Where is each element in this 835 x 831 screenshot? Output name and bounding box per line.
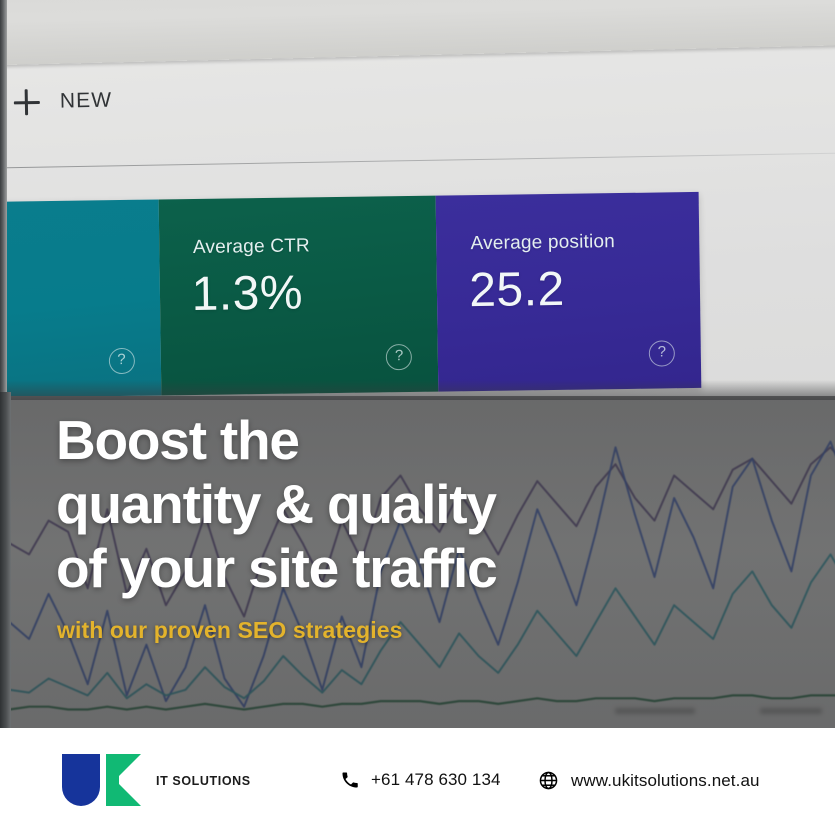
metric-card-value: 1.3% [191,265,303,322]
logo-k-upper-chevron [115,754,141,780]
new-button[interactable]: NEW [14,88,113,116]
help-icon[interactable]: ? [386,344,412,370]
metric-card-title: Average CTR [193,235,310,259]
phone-icon [340,770,360,790]
plus-icon [14,89,40,115]
logo-k-lower-chevron [115,780,141,806]
metric-card-impressions[interactable]: Impressions 6K ? [0,199,161,400]
uk-it-solutions-logo-icon [62,754,144,806]
help-icon[interactable]: ? [649,340,675,366]
headline-line-2: quantity & quality [56,472,676,536]
new-button-label: NEW [60,89,113,114]
help-icon[interactable]: ? [108,348,134,374]
metric-card-average-ctr[interactable]: Average CTR 1.3% ? [158,196,438,396]
globe-icon [538,770,559,791]
headline-line-3: of your site traffic [56,536,676,600]
poster-canvas: NEW Impressions 6K ? Average CTR 1.3% ? … [0,0,835,831]
footer-phone[interactable]: +61 478 630 134 [340,770,501,790]
metric-card-title: Average position [470,231,615,255]
logo-wordmark: IT SOLUTIONS [156,772,251,788]
hero-subheadline: with our proven SEO strategies [57,617,403,644]
logo-u-shape [62,754,100,806]
metric-card-value: 25.2 [469,262,565,318]
phone-number: +61 478 630 134 [371,770,501,790]
footer-website[interactable]: www.ukitsolutions.net.au [538,770,760,791]
app-toolbar: NEW [0,58,835,154]
brand-logo-group: IT SOLUTIONS [62,754,251,806]
headline-line-1: Boost the [56,408,676,472]
hero-headline: Boost the quantity & quality of your sit… [56,408,676,600]
footer-bar: IT SOLUTIONS +61 478 630 134 www.uki [0,728,835,831]
metric-cards-row: Impressions 6K ? Average CTR 1.3% ? Aver… [0,192,701,400]
monitor-photo: NEW Impressions 6K ? Average CTR 1.3% ? … [0,0,835,728]
website-url: www.ukitsolutions.net.au [571,771,760,791]
monitor-left-edge-lower [0,392,11,728]
metric-card-average-position[interactable]: Average position 25.2 ? [436,192,701,392]
